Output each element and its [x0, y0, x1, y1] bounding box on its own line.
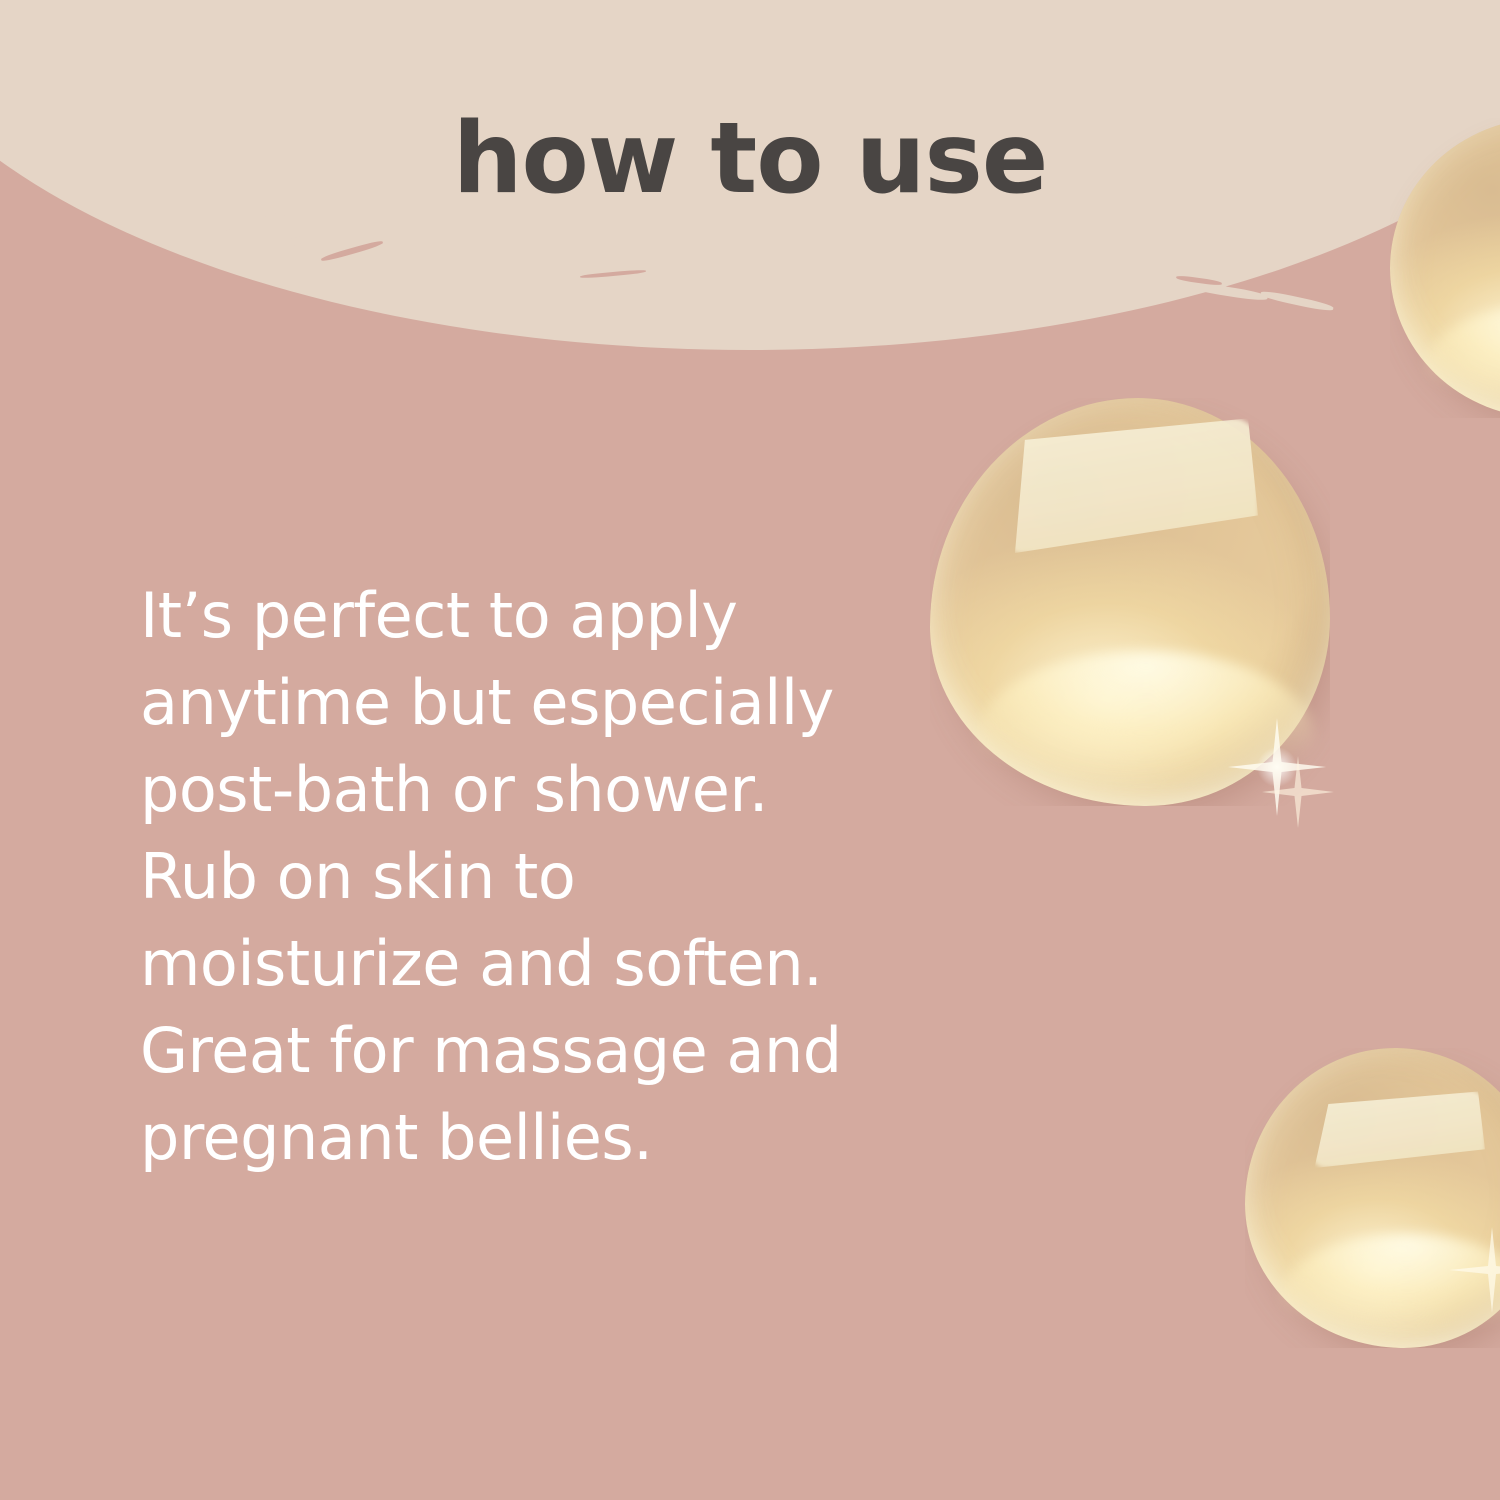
- body-line: Great for massage and: [140, 1007, 920, 1094]
- body-line: pregnant bellies.: [140, 1094, 920, 1181]
- oil-droplet-bottom-right: [1245, 1048, 1500, 1348]
- droplet-body: [1245, 1048, 1500, 1348]
- page-title: how to use: [0, 108, 1500, 211]
- oil-droplet-main: [930, 398, 1330, 806]
- product-info-card: how to use It’: [0, 0, 1500, 1500]
- droplet-body: [930, 398, 1330, 806]
- body-line: It’s perfect to apply: [140, 572, 920, 659]
- body-line: post-bath or shower.: [140, 746, 920, 833]
- edge-nick-5: [1260, 289, 1334, 312]
- body-line: Rub on skin to: [140, 833, 920, 920]
- body-line: anytime but especially: [140, 659, 920, 746]
- body-line: moisturize and soften.: [140, 920, 920, 1007]
- body-copy: It’s perfect to apply anytime but especi…: [140, 572, 920, 1181]
